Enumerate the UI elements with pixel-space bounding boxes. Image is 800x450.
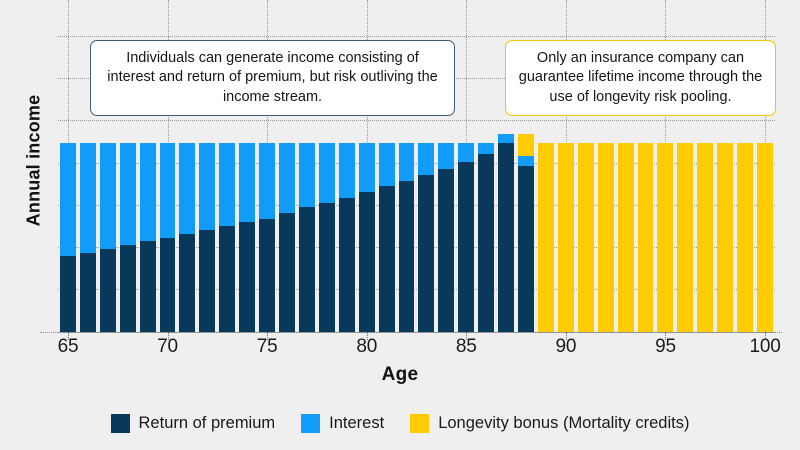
bar-age-85 <box>458 143 474 332</box>
bar-segment-interest <box>100 143 116 249</box>
bar-segment-interest <box>498 134 514 143</box>
bar-segment-return-of-premium <box>219 226 235 332</box>
bar-segment-interest <box>179 143 195 234</box>
bar-segment-interest <box>299 143 315 207</box>
bar-segment-interest <box>418 143 434 175</box>
legend-label-2: Longevity bonus (Mortality credits) <box>438 414 689 433</box>
bar-age-77 <box>299 143 315 332</box>
bar-age-76 <box>279 143 295 332</box>
bar-age-65 <box>60 143 76 332</box>
bar-age-99 <box>737 143 753 332</box>
legend-label-0: Return of premium <box>139 414 276 433</box>
bar-age-86 <box>478 143 494 332</box>
bar-segment-interest <box>518 156 534 165</box>
bar-segment-longevity-bonus-mortality-credits <box>618 143 634 332</box>
bar-age-72 <box>199 143 215 332</box>
bar-age-92 <box>598 143 614 332</box>
bar-age-80 <box>359 143 375 332</box>
bar-segment-interest <box>120 143 136 245</box>
legend-item-0[interactable]: Return of premium <box>111 414 276 433</box>
bar-age-82 <box>399 143 415 332</box>
bar-age-68 <box>120 143 136 332</box>
bar-segment-return-of-premium <box>518 166 534 332</box>
bar-segment-return-of-premium <box>279 213 295 332</box>
bar-segment-interest <box>379 143 395 186</box>
chart-legend: Return of premiumInterestLongevity bonus… <box>0 406 800 440</box>
bar-segment-interest <box>319 143 335 203</box>
bar-age-98 <box>717 143 733 332</box>
bar-age-91 <box>578 143 594 332</box>
bar-segment-longevity-bonus-mortality-credits <box>737 143 753 332</box>
bar-segment-interest <box>279 143 295 213</box>
x-axis-line <box>40 332 782 333</box>
x-tick-label-75: 75 <box>237 336 297 358</box>
bar-segment-interest <box>199 143 215 230</box>
callout-left: Individuals can generate income consisti… <box>90 40 455 116</box>
bar-segment-return-of-premium <box>319 203 335 332</box>
bar-segment-interest <box>60 143 76 256</box>
bar-segment-return-of-premium <box>259 219 275 332</box>
legend-item-2[interactable]: Longevity bonus (Mortality credits) <box>410 414 689 433</box>
bar-segment-longevity-bonus-mortality-credits <box>638 143 654 332</box>
x-axis-title: Age <box>0 364 800 386</box>
bar-segment-interest <box>140 143 156 241</box>
bar-segment-return-of-premium <box>199 230 215 332</box>
bar-age-74 <box>239 143 255 332</box>
callout-right-text: Only an insurance company can guarantee … <box>516 49 765 107</box>
callout-right: Only an insurance company can guarantee … <box>505 40 776 116</box>
bar-segment-interest <box>80 143 96 253</box>
bar-age-73 <box>219 143 235 332</box>
bar-age-66 <box>80 143 96 332</box>
bar-age-95 <box>657 143 673 332</box>
bar-segment-return-of-premium <box>140 241 156 332</box>
bar-segment-interest <box>239 143 255 222</box>
bar-segment-interest <box>219 143 235 226</box>
x-tick-label-65: 65 <box>38 336 98 358</box>
bar-segment-interest <box>438 143 454 169</box>
bar-segment-return-of-premium <box>100 249 116 332</box>
bar-segment-longevity-bonus-mortality-credits <box>677 143 693 332</box>
bar-age-83 <box>418 143 434 332</box>
x-tick-label-80: 80 <box>337 336 397 358</box>
x-tick-label-100: 100 <box>735 336 795 358</box>
bar-segment-return-of-premium <box>399 181 415 332</box>
bar-age-88 <box>518 134 534 332</box>
bar-segment-interest <box>359 143 375 192</box>
legend-item-1[interactable]: Interest <box>301 414 384 433</box>
bar-age-84 <box>438 143 454 332</box>
bar-age-69 <box>140 143 156 332</box>
bar-segment-longevity-bonus-mortality-credits <box>697 143 713 332</box>
chart-root: Annual income 65707580859095100 Age Indi… <box>0 0 800 450</box>
bar-segment-return-of-premium <box>359 192 375 332</box>
bar-segment-longevity-bonus-mortality-credits <box>657 143 673 332</box>
y-axis-title: Annual income <box>24 51 45 271</box>
bar-segment-interest <box>458 143 474 162</box>
bar-age-90 <box>558 143 574 332</box>
bar-age-97 <box>697 143 713 332</box>
bar-segment-return-of-premium <box>160 238 176 333</box>
bar-segment-return-of-premium <box>60 256 76 332</box>
bar-age-96 <box>677 143 693 332</box>
bar-age-67 <box>100 143 116 332</box>
bar-age-94 <box>638 143 654 332</box>
x-tick-label-70: 70 <box>138 336 198 358</box>
bar-segment-return-of-premium <box>478 154 494 332</box>
bar-segment-longevity-bonus-mortality-credits <box>538 143 554 332</box>
bar-segment-return-of-premium <box>179 234 195 332</box>
bar-segment-return-of-premium <box>120 245 136 332</box>
bar-segment-return-of-premium <box>498 143 514 332</box>
bar-segment-interest <box>160 143 176 238</box>
bar-segment-return-of-premium <box>458 162 474 332</box>
bar-age-75 <box>259 143 275 332</box>
bar-age-87 <box>498 134 514 332</box>
legend-label-1: Interest <box>329 414 384 433</box>
bar-age-79 <box>339 143 355 332</box>
bar-segment-longevity-bonus-mortality-credits <box>717 143 733 332</box>
bar-segment-interest <box>478 143 494 154</box>
bar-segment-return-of-premium <box>418 175 434 332</box>
legend-swatch-icon-2 <box>410 414 429 433</box>
bar-segment-return-of-premium <box>299 207 315 332</box>
bar-age-100 <box>757 143 773 332</box>
bar-segment-longevity-bonus-mortality-credits <box>757 143 773 332</box>
bar-segment-longevity-bonus-mortality-credits <box>518 134 534 157</box>
bar-segment-longevity-bonus-mortality-credits <box>558 143 574 332</box>
bar-segment-return-of-premium <box>239 222 255 332</box>
bar-age-78 <box>319 143 335 332</box>
bar-age-70 <box>160 143 176 332</box>
bar-segment-return-of-premium <box>379 186 395 332</box>
x-tick-label-95: 95 <box>635 336 695 358</box>
legend-swatch-icon-0 <box>111 414 130 433</box>
bar-segment-return-of-premium <box>80 253 96 332</box>
bar-segment-interest <box>259 143 275 219</box>
legend-swatch-icon-1 <box>301 414 320 433</box>
bar-segment-interest <box>399 143 415 181</box>
bar-age-81 <box>379 143 395 332</box>
x-tick-label-85: 85 <box>436 336 496 358</box>
x-tick-label-90: 90 <box>536 336 596 358</box>
bar-segment-interest <box>339 143 355 198</box>
bar-age-93 <box>618 143 634 332</box>
bar-segment-longevity-bonus-mortality-credits <box>578 143 594 332</box>
bar-segment-longevity-bonus-mortality-credits <box>598 143 614 332</box>
bar-age-89 <box>538 143 554 332</box>
bar-segment-return-of-premium <box>438 169 454 332</box>
bar-segment-return-of-premium <box>339 198 355 332</box>
callout-left-text: Individuals can generate income consisti… <box>101 49 444 107</box>
bar-age-71 <box>179 143 195 332</box>
